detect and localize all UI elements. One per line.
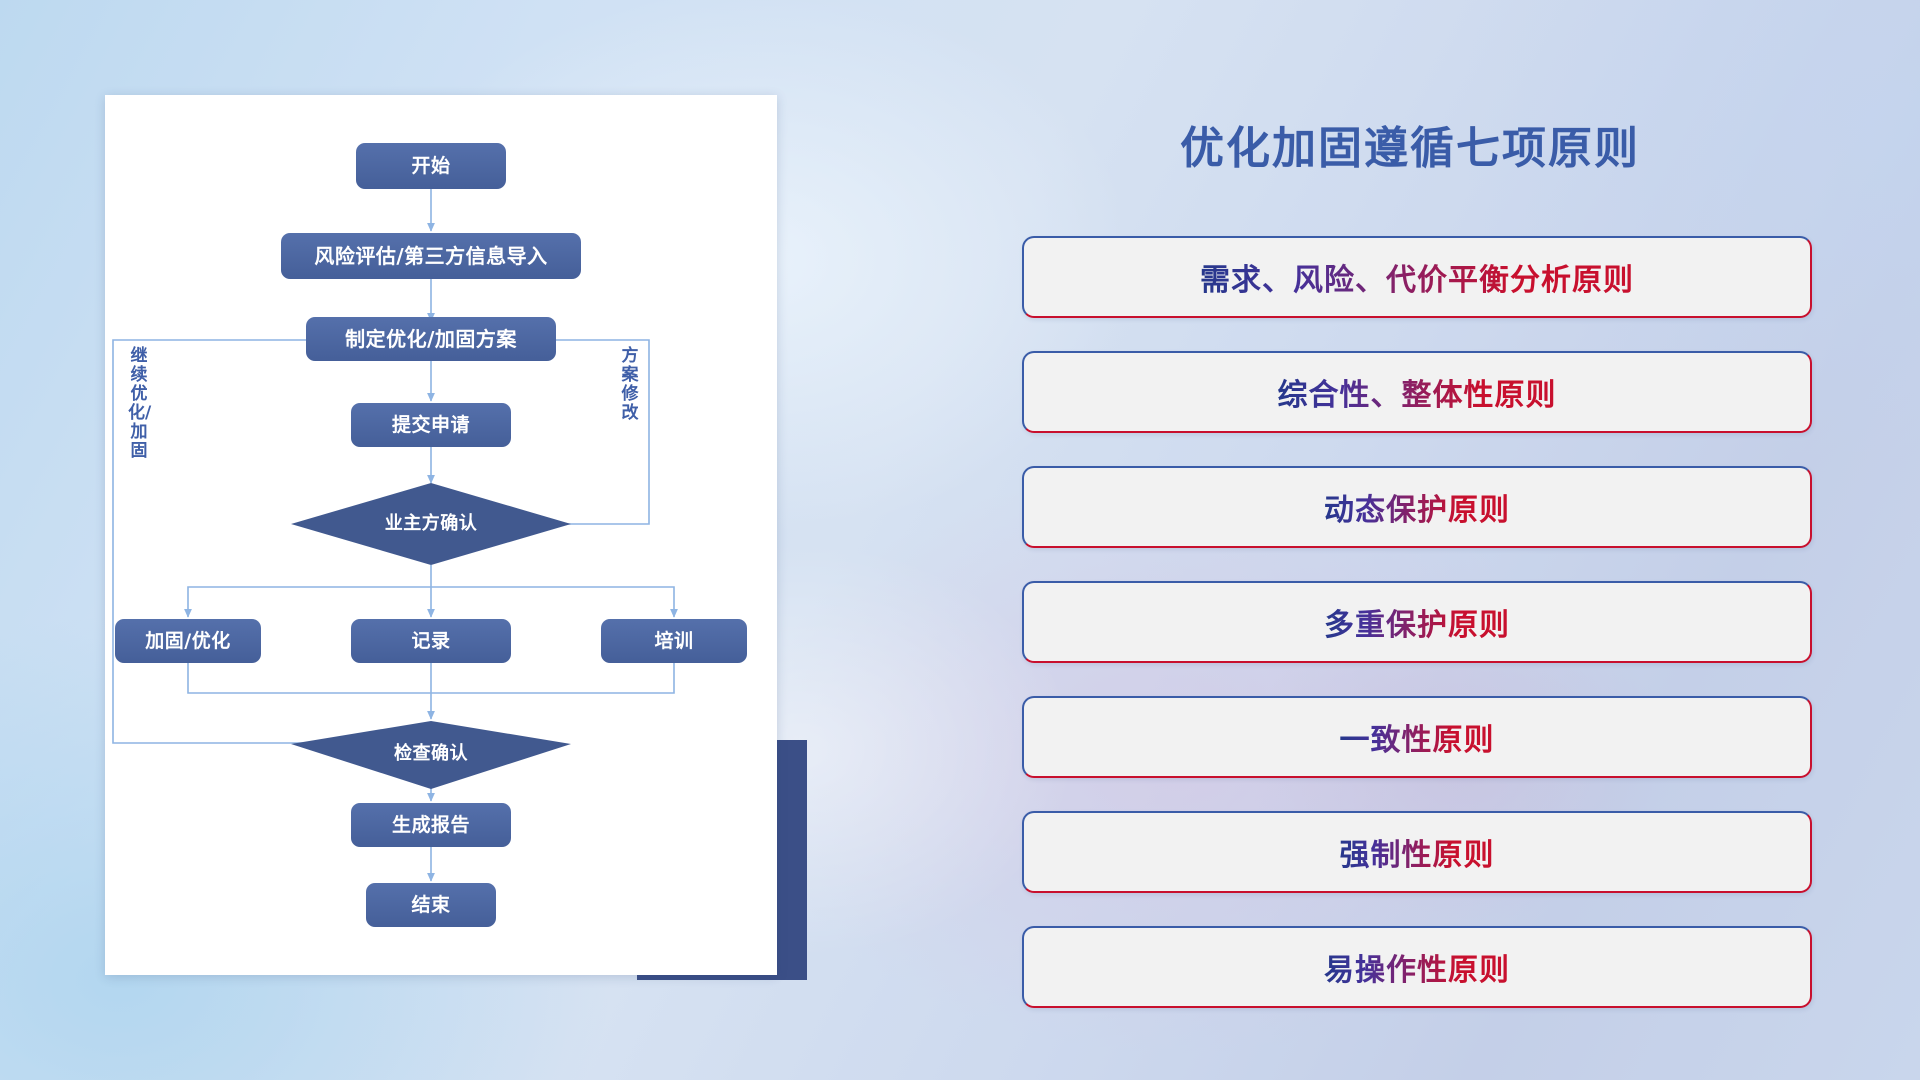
principle-card-5-label: 一致性原则: [1340, 715, 1495, 759]
page-title: 优化加固遵循七项原则: [1010, 112, 1810, 176]
flow-node-owner-confirm[interactable]: 业主方确认: [331, 509, 531, 539]
principle-card-2-label: 综合性、整体性原则: [1278, 370, 1557, 414]
principle-card-6[interactable]: 强制性原则: [1022, 811, 1812, 893]
principle-card-3[interactable]: 动态保护原则: [1022, 466, 1812, 548]
flow-node-training[interactable]: 培训: [601, 619, 747, 663]
principle-card-1-label: 需求、风险、代价平衡分析原则: [1200, 255, 1634, 299]
flow-node-risk-assessment[interactable]: 风险评估/第三方信息导入: [281, 233, 581, 279]
principle-card-3-label: 动态保护原则: [1324, 485, 1510, 529]
flow-node-reinforce[interactable]: 加固/优化: [115, 619, 261, 663]
slide-canvas: 开始 风险评估/第三方信息导入 制定优化/加固方案 提交申请 业主方确认 加固/…: [0, 0, 1920, 1080]
flow-node-record[interactable]: 记录: [351, 619, 511, 663]
flow-node-start[interactable]: 开始: [356, 143, 506, 189]
flowchart-panel: 开始 风险评估/第三方信息导入 制定优化/加固方案 提交申请 业主方确认 加固/…: [105, 95, 777, 975]
flow-node-generate-report[interactable]: 生成报告: [351, 803, 511, 847]
principle-card-2[interactable]: 综合性、整体性原则: [1022, 351, 1812, 433]
principle-card-7[interactable]: 易操作性原则: [1022, 926, 1812, 1008]
flow-node-inspect-confirm[interactable]: 检查确认: [331, 739, 531, 769]
principle-card-6-label: 强制性原则: [1340, 830, 1495, 874]
flow-node-end[interactable]: 结束: [366, 883, 496, 927]
flow-edge-label-continue-optimize: 继续优化/加固: [128, 347, 150, 461]
principles-list: 需求、风险、代价平衡分析原则 综合性、整体性原则 动态保护原则 多重保护原则 一…: [1022, 236, 1812, 1041]
principle-card-7-label: 易操作性原则: [1324, 945, 1510, 989]
principle-card-1[interactable]: 需求、风险、代价平衡分析原则: [1022, 236, 1812, 318]
principle-card-4-label: 多重保护原则: [1324, 600, 1510, 644]
principle-card-5[interactable]: 一致性原则: [1022, 696, 1812, 778]
flow-node-submit[interactable]: 提交申请: [351, 403, 511, 447]
principle-card-4[interactable]: 多重保护原则: [1022, 581, 1812, 663]
flow-node-plan[interactable]: 制定优化/加固方案: [306, 317, 556, 361]
flow-edge-label-plan-revision: 方案修改: [619, 347, 641, 423]
